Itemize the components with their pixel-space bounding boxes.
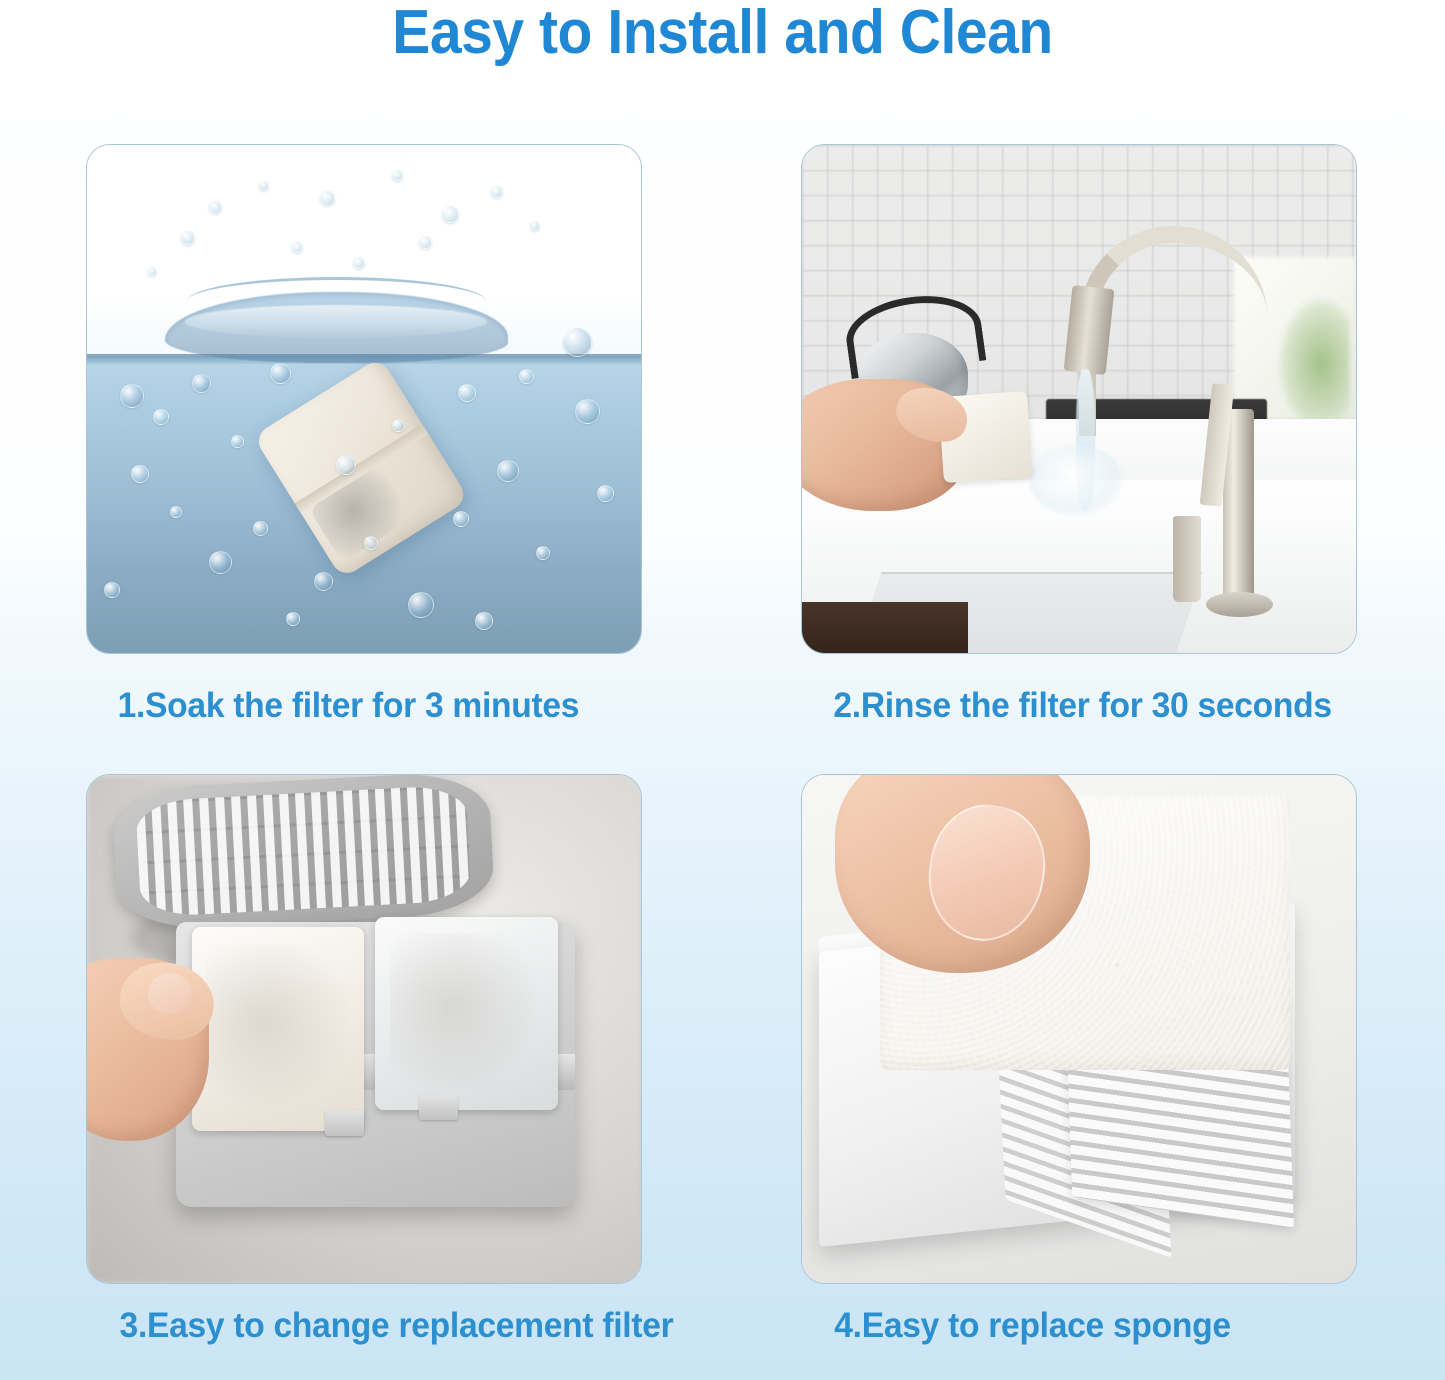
bubble bbox=[259, 181, 269, 191]
bubble bbox=[353, 257, 365, 269]
bubble bbox=[231, 435, 244, 448]
cabinet bbox=[802, 602, 968, 653]
step-3-caption: 3.Easy to change replacement filter bbox=[120, 1306, 674, 1346]
bubble bbox=[104, 582, 120, 598]
step-1-caption: 1.Soak the filter for 3 minutes bbox=[118, 686, 580, 726]
step-1-image-panel bbox=[86, 144, 642, 654]
step-4-image-panel bbox=[801, 774, 1357, 1284]
splash-crest bbox=[187, 277, 486, 326]
bubble bbox=[170, 506, 182, 518]
pad-texture bbox=[390, 933, 544, 1095]
bubble bbox=[253, 521, 268, 536]
bubble bbox=[458, 384, 476, 402]
plant bbox=[1278, 297, 1350, 419]
lid-slots bbox=[134, 784, 471, 918]
bubble bbox=[320, 191, 335, 206]
bubble bbox=[392, 419, 405, 432]
bubble bbox=[491, 186, 503, 198]
step-3-image-panel bbox=[86, 774, 642, 1284]
bubble bbox=[597, 485, 614, 502]
pad-texture bbox=[206, 944, 350, 1115]
tray-clip bbox=[325, 1110, 364, 1135]
filter-housing-lid bbox=[111, 775, 495, 932]
bubble bbox=[442, 206, 459, 223]
bubble bbox=[497, 460, 519, 482]
water-splash bbox=[1029, 445, 1123, 516]
fingernail bbox=[148, 973, 192, 1014]
bubble bbox=[192, 374, 211, 393]
filter-pad-left bbox=[192, 927, 364, 1130]
rinse-at-faucet-scene bbox=[802, 145, 1356, 653]
bubble bbox=[575, 399, 600, 424]
tray-clip bbox=[419, 1095, 458, 1120]
bubble bbox=[519, 369, 534, 384]
replace-sponge-scene bbox=[802, 775, 1356, 1283]
step-4-caption: 4.Easy to replace sponge bbox=[834, 1306, 1230, 1346]
faucet-spray-head bbox=[1064, 285, 1114, 375]
step-2-image-panel bbox=[801, 144, 1357, 654]
filter-pad-right bbox=[375, 917, 558, 1110]
step-2-caption: 2.Rinse the filter for 30 seconds bbox=[833, 686, 1331, 726]
infographic-page: Easy to Install and Clean bbox=[0, 0, 1445, 1380]
change-filter-scene bbox=[87, 775, 641, 1283]
bubble bbox=[453, 511, 469, 527]
bubble bbox=[120, 384, 144, 408]
bubble bbox=[209, 201, 222, 214]
soap-dispenser bbox=[1173, 516, 1201, 602]
page-title: Easy to Install and Clean bbox=[58, 0, 1387, 68]
bubble bbox=[536, 546, 550, 560]
soak-in-water-scene bbox=[87, 145, 641, 653]
bubble bbox=[292, 242, 303, 253]
bubble bbox=[314, 572, 333, 591]
bubble bbox=[148, 267, 157, 276]
